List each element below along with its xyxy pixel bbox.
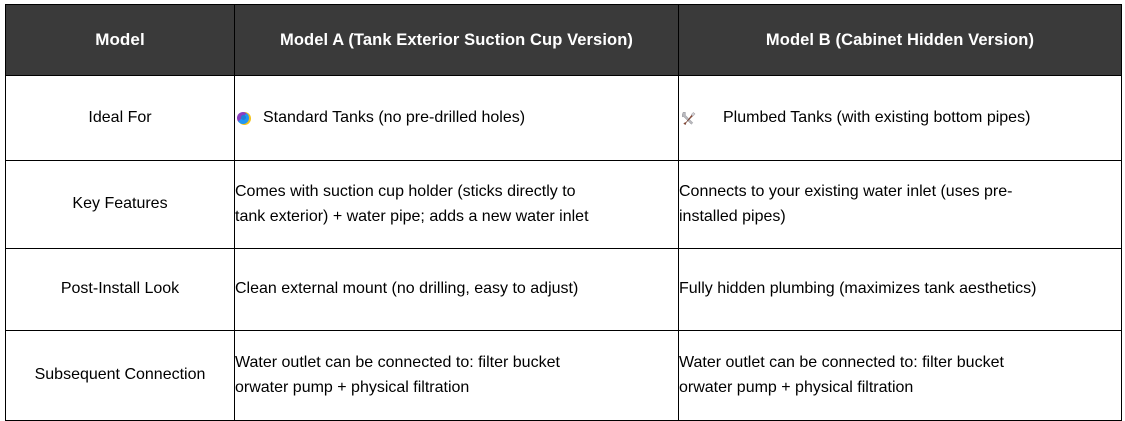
cell-text-line-1: Water outlet can be connected to: filter…	[679, 351, 1121, 375]
model-comparison-table: Model Model A (Tank Exterior Suction Cup…	[5, 4, 1122, 421]
cell-post-install-look-model-b: Fully hidden plumbing (maximizes tank ae…	[679, 249, 1122, 331]
cell-key-features-model-b: Connects to your existing water inlet (u…	[679, 161, 1122, 249]
cell-subsequent-connection-model-a: Water outlet can be connected to: filter…	[235, 331, 679, 421]
cell-text-line-2: installed pipes)	[679, 205, 1121, 229]
cell-post-install-look-model-a: Clean external mount (no drilling, easy …	[235, 249, 679, 331]
comparison-table-container: Model Model A (Tank Exterior Suction Cup…	[0, 0, 1125, 420]
cell-text-line-2: orwater pump + physical filtration	[235, 376, 678, 400]
row-label-post-install-look: Post-Install Look	[6, 249, 235, 331]
cell-text-line-1: Clean external mount (no drilling, easy …	[235, 277, 678, 301]
table-header: Model Model A (Tank Exterior Suction Cup…	[6, 5, 1122, 76]
cell-text: Plumbed Tanks (with existing bottom pipe…	[723, 106, 1121, 130]
blue-circle-icon	[235, 109, 253, 127]
column-header-model: Model	[6, 5, 235, 76]
cell-text-line-1: Water outlet can be connected to: filter…	[235, 351, 678, 375]
row-label-subsequent-connection: Subsequent Connection	[6, 331, 235, 421]
column-header-model-a: Model A (Tank Exterior Suction Cup Versi…	[235, 5, 679, 76]
icon-text-row: Standard Tanks (no pre-drilled holes)	[235, 106, 678, 130]
cell-text: Standard Tanks (no pre-drilled holes)	[263, 106, 678, 130]
table-row-subsequent-connection: Subsequent Connection Water outlet can b…	[6, 331, 1122, 421]
table-row-key-features: Key Features Comes with suction cup hold…	[6, 161, 1122, 249]
cell-subsequent-connection-model-b: Water outlet can be connected to: filter…	[679, 331, 1122, 421]
cell-key-features-model-a: Comes with suction cup holder (sticks di…	[235, 161, 679, 249]
hammer-and-wrench-icon	[679, 109, 697, 127]
cell-ideal-for-model-a: Standard Tanks (no pre-drilled holes)	[235, 76, 679, 161]
row-label-ideal-for: Ideal For	[6, 76, 235, 161]
cell-text-line-1: Comes with suction cup holder (sticks di…	[235, 180, 678, 204]
cell-text-line-2: tank exterior) + water pipe; adds a new …	[235, 205, 678, 229]
column-header-model-b: Model B (Cabinet Hidden Version)	[679, 5, 1122, 76]
table-body: Ideal For Standard Tanks (no pre-drilled…	[6, 76, 1122, 421]
cell-ideal-for-model-b: Plumbed Tanks (with existing bottom pipe…	[679, 76, 1122, 161]
header-row: Model Model A (Tank Exterior Suction Cup…	[6, 5, 1122, 76]
table-row-ideal-for: Ideal For Standard Tanks (no pre-drilled…	[6, 76, 1122, 161]
icon-text-row: Plumbed Tanks (with existing bottom pipe…	[679, 106, 1121, 130]
cell-text-line-2: orwater pump + physical filtration	[679, 376, 1121, 400]
cell-text-line-1: Connects to your existing water inlet (u…	[679, 180, 1121, 204]
row-label-key-features: Key Features	[6, 161, 235, 249]
table-row-post-install-look: Post-Install Look Clean external mount (…	[6, 249, 1122, 331]
cell-text-line-1: Fully hidden plumbing (maximizes tank ae…	[679, 277, 1121, 301]
